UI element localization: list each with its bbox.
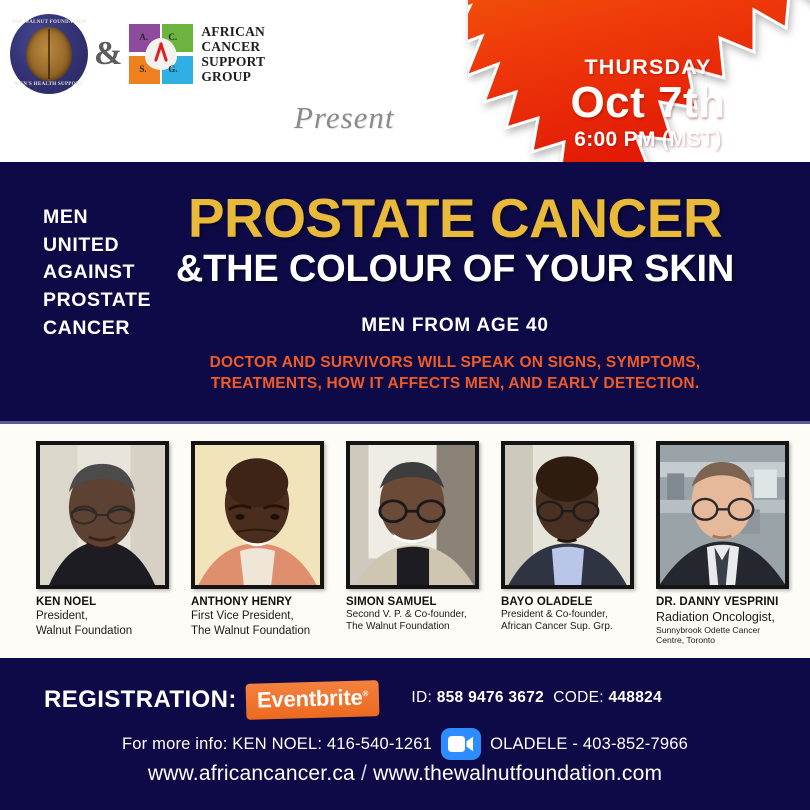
audience-line: MEN FROM AGE 40 (155, 315, 755, 337)
acsg-logo-icon: A. C. S. G. (128, 23, 194, 85)
slogan-line-3: AGAINST (43, 259, 151, 287)
ampersand-text: & (94, 37, 122, 71)
eventbrite-label: Eventbrite (256, 685, 362, 713)
seal-top-text: THE WALNUT FOUNDATION (12, 20, 87, 25)
initial-s: S. (139, 64, 146, 74)
footer-band: REGISTRATION: Eventbrite® ID: 858 9476 3… (0, 658, 810, 810)
speaker-photo (501, 441, 634, 589)
badge-date: Oct 7th (570, 81, 725, 126)
seal-bottom-text: MEN'S HEALTH SUPPORT (15, 82, 83, 87)
acsg-initials: A. C. S. G. (128, 23, 194, 85)
description-text: DOCTOR AND SURVIVORS WILL SPEAK ON SIGNS… (155, 353, 755, 395)
speaker-org: African Cancer Sup. Grp. (501, 621, 634, 633)
initial-g: G. (168, 64, 177, 74)
seal-text: THE WALNUT FOUNDATION MEN'S HEALTH SUPPO… (10, 14, 88, 94)
event-title-primary: PROSTATE CANCER (155, 192, 755, 246)
acsg-wordmark: AFRICAN CANCER SUPPORT GROUP (201, 24, 265, 84)
badge-time: 6:00 PM (MST) (574, 129, 721, 150)
speaker-role: Radiation Oncologist, (656, 610, 789, 625)
speaker-card: KEN NOEL President, Walnut Foundation (36, 441, 169, 645)
speaker-name: BAYO OLADELE (501, 596, 634, 609)
badge-day: THURSDAY (584, 57, 711, 79)
side-slogan: MEN UNITED AGAINST PROSTATE CANCER (43, 204, 151, 342)
website-2[interactable]: www.thewalnutfoundation.com (373, 762, 662, 785)
website-1[interactable]: www.africancancer.ca (148, 762, 355, 785)
slogan-line-1: MEN (43, 204, 151, 232)
speaker-card: BAYO OLADELE President & Co-founder, Afr… (501, 441, 634, 645)
speaker-org: Sunnybrook Odette Cancer Centre, Toronto (656, 625, 789, 645)
meeting-id-code: ID: 858 9476 3672 CODE: 448824 (411, 689, 662, 707)
id-value: 858 9476 3672 (437, 689, 544, 706)
description-line-2: TREATMENTS, HOW IT AFFECTS MEN, AND EARL… (155, 374, 755, 395)
acsg-word-3: SUPPORT (201, 54, 265, 69)
speaker-card: DR. DANNY VESPRINI Radiation Oncologist,… (656, 441, 789, 645)
website-line: www.africancancer.ca / www.thewalnutfoun… (0, 762, 810, 786)
speaker-photo (656, 441, 789, 589)
initial-a: A. (139, 32, 148, 42)
speaker-role: President & Co-founder, (501, 609, 634, 621)
speaker-org: The Walnut Foundation (346, 621, 479, 633)
speaker-org: Walnut Foundation (36, 625, 169, 639)
walnut-foundation-seal-icon: THE WALNUT FOUNDATION MEN'S HEALTH SUPPO… (10, 14, 88, 94)
speaker-card: ANTHONY HENRY First Vice President, The … (191, 441, 324, 645)
registration-label: REGISTRATION: (44, 686, 237, 714)
logo-group: THE WALNUT FOUNDATION MEN'S HEALTH SUPPO… (10, 14, 265, 94)
speaker-role: President, (36, 610, 169, 624)
speakers-row: KEN NOEL President, Walnut Foundation (36, 441, 781, 645)
speaker-card: SIMON SAMUEL Second V. P. & Co-founder, … (346, 441, 479, 645)
zoom-video-icon (441, 728, 481, 760)
speaker-name: ANTHONY HENRY (191, 596, 324, 609)
slogan-line-5: CANCER (43, 315, 151, 343)
event-title-secondary: &THE COLOUR OF YOUR SKIN (155, 250, 755, 290)
initial-c: C. (168, 32, 177, 42)
website-separator: / (361, 762, 367, 785)
eventbrite-trademark: ® (362, 689, 368, 698)
contact-prefix: For more info: KEN NOEL: 416-540-1261 (122, 735, 432, 754)
registration-line: REGISTRATION: Eventbrite® (44, 682, 379, 718)
speakers-section: KEN NOEL President, Walnut Foundation (0, 425, 810, 658)
id-label: ID: (411, 689, 432, 706)
acsg-word-4: GROUP (201, 69, 265, 84)
description-line-1: DOCTOR AND SURVIVORS WILL SPEAK ON SIGNS… (155, 353, 755, 374)
slogan-line-2: UNITED (43, 232, 151, 260)
speaker-name: SIMON SAMUEL (346, 596, 479, 609)
contact-info-line: For more info: KEN NOEL: 416-540-1261 OL… (0, 728, 810, 760)
contact-suffix: OLADELE - 403-852-7966 (490, 735, 688, 754)
speaker-photo (346, 441, 479, 589)
speaker-photo (191, 441, 324, 589)
event-flyer: THE WALNUT FOUNDATION MEN'S HEALTH SUPPO… (0, 0, 810, 810)
acsg-logo: A. C. S. G. AFRICAN CANCER SUPPORT GROUP (128, 23, 265, 85)
speaker-name: DR. DANNY VESPRINI (656, 596, 789, 609)
title-block: PROSTATE CANCER &THE COLOUR OF YOUR SKIN… (155, 192, 755, 395)
speaker-role: Second V. P. & Co-founder, (346, 609, 479, 621)
speaker-role: First Vice President, (191, 610, 324, 624)
speaker-photo (36, 441, 169, 589)
code-label: CODE: (553, 689, 604, 706)
slogan-line-4: PROSTATE (43, 287, 151, 315)
main-navy-panel: MEN UNITED AGAINST PROSTATE CANCER PROST… (0, 162, 810, 424)
acsg-word-2: CANCER (201, 39, 265, 54)
speaker-org: The Walnut Foundation (191, 625, 324, 639)
speaker-name: KEN NOEL (36, 596, 169, 609)
present-script-text: Present (294, 100, 395, 136)
acsg-word-1: AFRICAN (201, 24, 265, 39)
eventbrite-button[interactable]: Eventbrite® (245, 680, 379, 720)
code-value: 448824 (608, 689, 662, 706)
